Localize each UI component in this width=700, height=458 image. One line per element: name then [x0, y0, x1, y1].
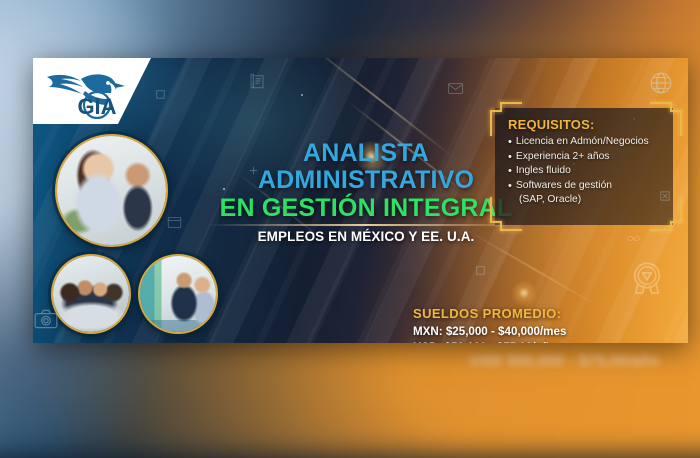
photo-interview-woman [55, 134, 168, 247]
square-icon [156, 90, 165, 99]
window-icon [167, 216, 182, 229]
backdrop-ghost-text: USD $50,000 - $75,00/año [470, 352, 660, 369]
salary-line-mxn: MXN: $25,000 - $40,000/mes [413, 324, 566, 340]
requirement-text: Licencia en Admón/Negocios [516, 135, 649, 150]
eagle-icon: GIA [41, 63, 129, 119]
photo-team-meeting [51, 254, 131, 334]
requirement-continuation: (SAP, Oracle) [508, 193, 663, 208]
job-title-line2: EN GESTIÓN INTEGRAL [201, 194, 531, 222]
divider-rule [207, 224, 525, 226]
salary-block: SUELDOS PROMEDIO: MXN: $25,000 - $40,000… [413, 306, 566, 343]
requirement-item: • Softwares de gestión [508, 179, 663, 194]
lens-flare [511, 280, 537, 306]
logo-wordmark: GIA [77, 94, 116, 119]
salary-line-usd: USD: $50,000 - $75,00/año [413, 340, 566, 343]
salary-title: SUELDOS PROMEDIO: [413, 306, 566, 321]
headline-block: ANALISTA ADMINISTRATIVO EN GESTIÓN INTEG… [201, 140, 531, 244]
photo-presentation [138, 254, 218, 334]
job-ad-card: GIA ANALISTA ADMINISTRATIVO EN GESTIÓN I… [33, 58, 688, 343]
requirements-title: REQUISITOS: [508, 117, 663, 132]
bullet-icon: • [508, 135, 512, 149]
globe-icon [648, 70, 674, 96]
requirement-item: • Experiencia 2+ años [508, 150, 663, 165]
requirement-item: • Ingles fluido [508, 164, 663, 179]
plus-icon [249, 166, 258, 175]
speck [301, 94, 303, 96]
badge-icon [626, 258, 668, 300]
requirement-text: Experiencia 2+ años [516, 150, 610, 165]
brand-logo[interactable]: GIA [33, 58, 151, 124]
mail-icon [447, 80, 464, 97]
requirement-text: Ingles fluido [516, 164, 571, 179]
document-icon [248, 72, 266, 90]
requirement-item: • Licencia en Admón/Negocios [508, 135, 663, 150]
camera-icon [33, 306, 59, 332]
job-locations: EMPLEOS EN MÉXICO Y EE. U.A. [201, 229, 531, 244]
bullet-icon: • [508, 150, 512, 164]
bullet-icon: • [508, 179, 512, 193]
requirements-box: REQUISITOS: • Licencia en Admón/Negocios… [495, 108, 673, 225]
requirement-text: Softwares de gestión [516, 179, 612, 194]
link-icon [627, 234, 640, 243]
square-icon [660, 191, 670, 201]
bullet-icon: • [508, 164, 512, 178]
square-icon [476, 266, 485, 275]
